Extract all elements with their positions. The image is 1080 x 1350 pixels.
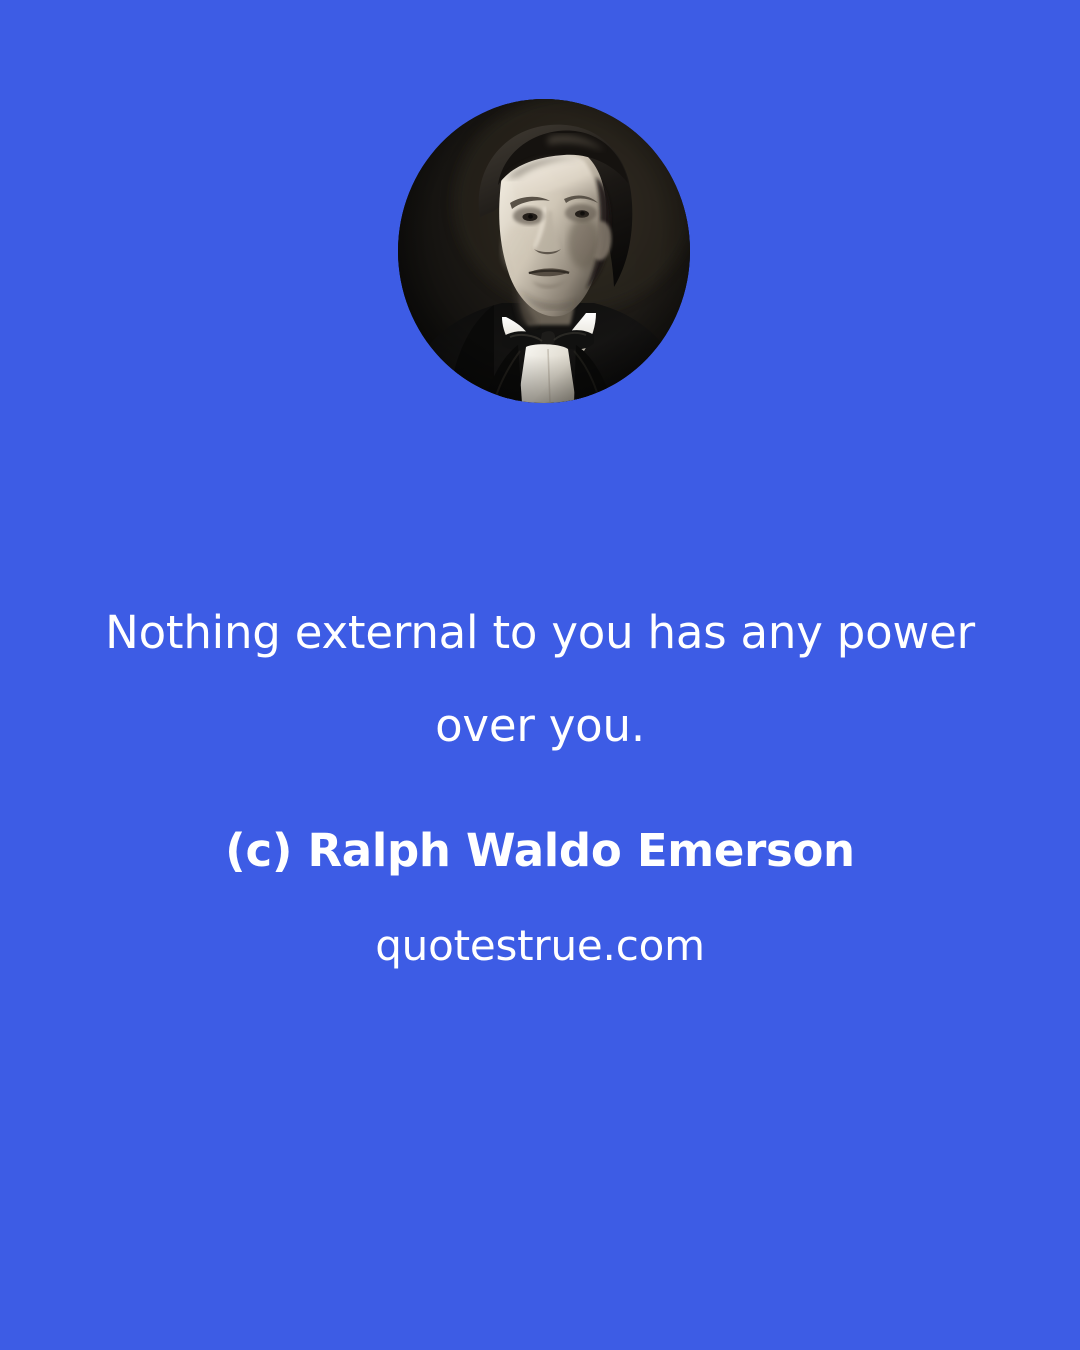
quote-line-1: Nothing external to you has any power [0,586,1080,679]
author-portrait [398,99,690,403]
source-website: quotestrue.com [0,923,1080,969]
quote-attribution: (c) Ralph Waldo Emerson [0,826,1080,876]
quote-text-block: Nothing external to you has any power ov… [0,586,1080,969]
quote-line-2: over you. [0,679,1080,772]
portrait-photo-icon [398,99,690,403]
quote-card: Nothing external to you has any power ov… [0,0,1080,1350]
